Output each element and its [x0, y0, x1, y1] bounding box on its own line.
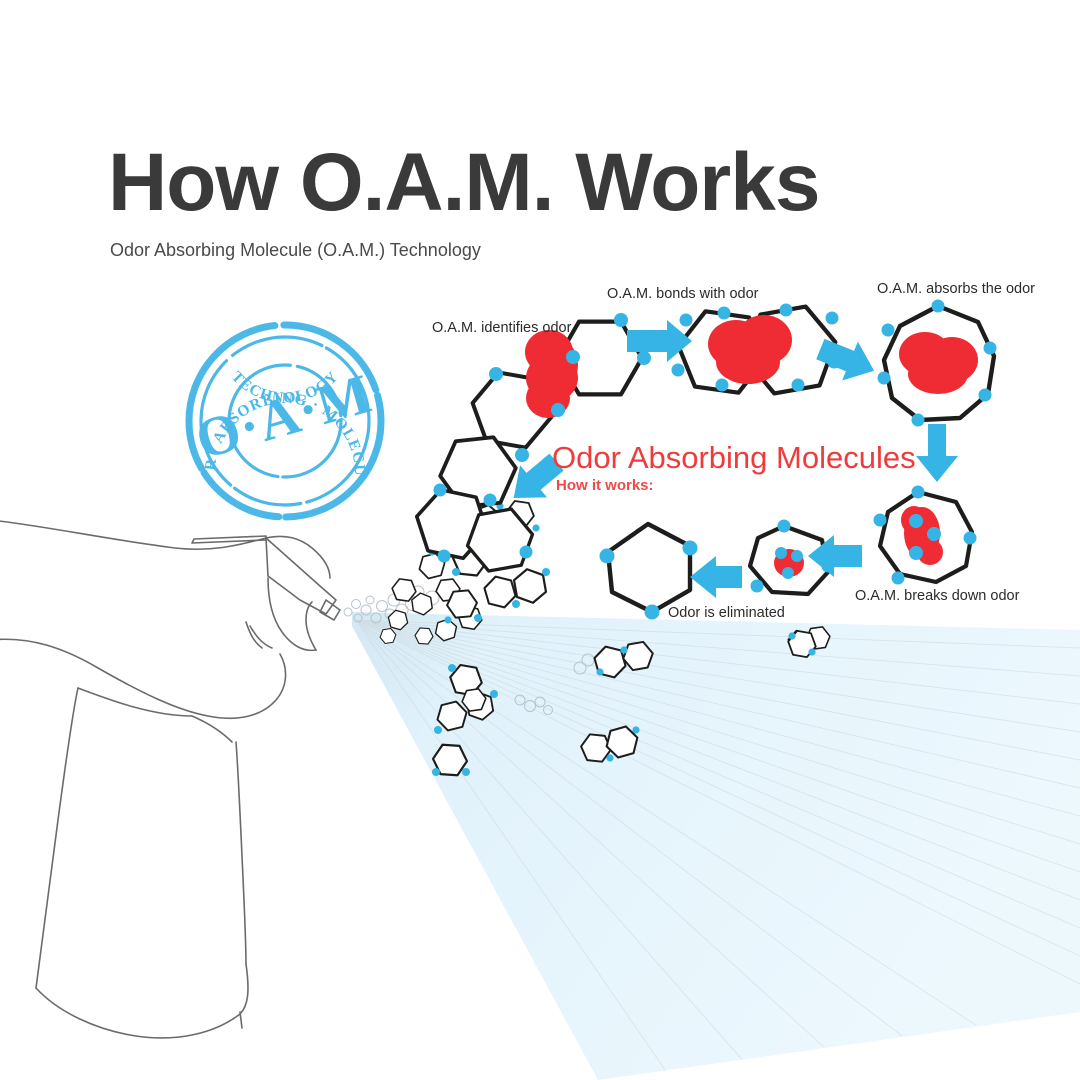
step-label-breaks: O.A.M. breaks down odor — [855, 588, 1019, 604]
page-title: How O.A.M. Works — [108, 142, 819, 224]
step-label-eliminated: Odor is eliminated — [668, 605, 785, 621]
step-label-bonds: O.A.M. bonds with odor — [607, 286, 759, 302]
infographic-canvas: ODOR · ABSORBING · MOLECULES TECHNOLOGY … — [0, 0, 1080, 1080]
center-subhead: How it works: — [556, 477, 654, 494]
step-breaks-down-odor-graphic — [874, 486, 977, 585]
hand-holding-spray-bottle — [0, 520, 340, 1038]
odor-blob — [525, 330, 578, 418]
center-headline: Odor Absorbing Molecules — [552, 440, 916, 476]
oam-stamp-seal: ODOR · ABSORBING · MOLECULES TECHNOLOGY … — [189, 325, 381, 517]
arrow-down-3 — [916, 424, 958, 482]
page-subtitle: Odor Absorbing Molecule (O.A.M.) Technol… — [110, 240, 481, 261]
arrow-left-5 — [690, 556, 742, 598]
step-label-absorbs: O.A.M. absorbs the odor — [877, 281, 1035, 297]
step-bonds-with-odor-graphic — [672, 303, 843, 398]
step-absorbs-odor-graphic — [878, 300, 997, 427]
step-label-identifies: O.A.M. identifies odor — [432, 320, 571, 336]
